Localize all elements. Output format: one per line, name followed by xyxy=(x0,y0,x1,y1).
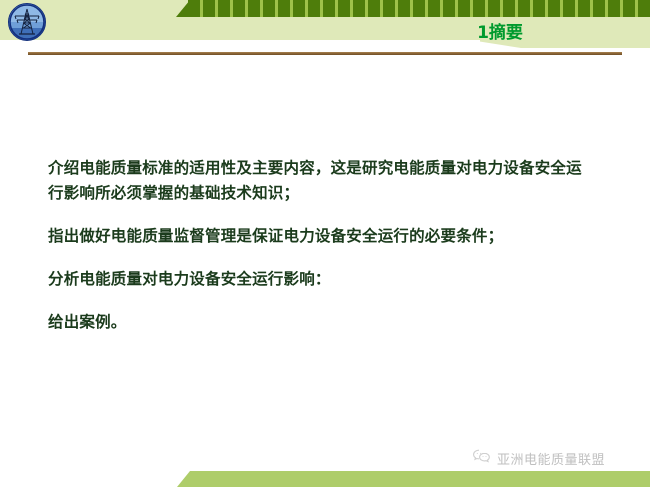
page-title: 1摘要 xyxy=(440,18,560,43)
paragraph-1: 介绍电能质量标准的适用性及主要内容，这是研究电能质量对电力设备安全运行影响所必须… xyxy=(48,156,588,206)
paragraph-list: 介绍电能质量标准的适用性及主要内容，这是研究电能质量对电力设备安全运行影响所必须… xyxy=(48,156,588,335)
paragraph-4: 给出案例。 xyxy=(48,310,588,335)
presentation-slide: 1摘要 介绍电能质量标准的适用性及主要内容，这是研究电能质量对电力设备安全运行影… xyxy=(0,0,650,487)
watermark: 亚洲电能质量联盟 xyxy=(472,448,605,468)
header-divider-rule xyxy=(28,52,622,55)
watermark-text: 亚洲电能质量联盟 xyxy=(497,449,605,468)
dashed-decorative-band xyxy=(188,0,650,17)
footer-accent-bar xyxy=(177,471,650,487)
paragraph-3: 分析电能质量对电力设备安全运行影响： xyxy=(48,267,588,292)
wechat-icon xyxy=(472,448,492,468)
transmission-tower-logo-icon xyxy=(8,3,46,41)
paragraph-2: 指出做好电能质量监督管理是保证电力设备安全运行的必要条件； xyxy=(48,224,588,249)
slide-body: 介绍电能质量标准的适用性及主要内容，这是研究电能质量对电力设备安全运行影响所必须… xyxy=(0,56,650,456)
